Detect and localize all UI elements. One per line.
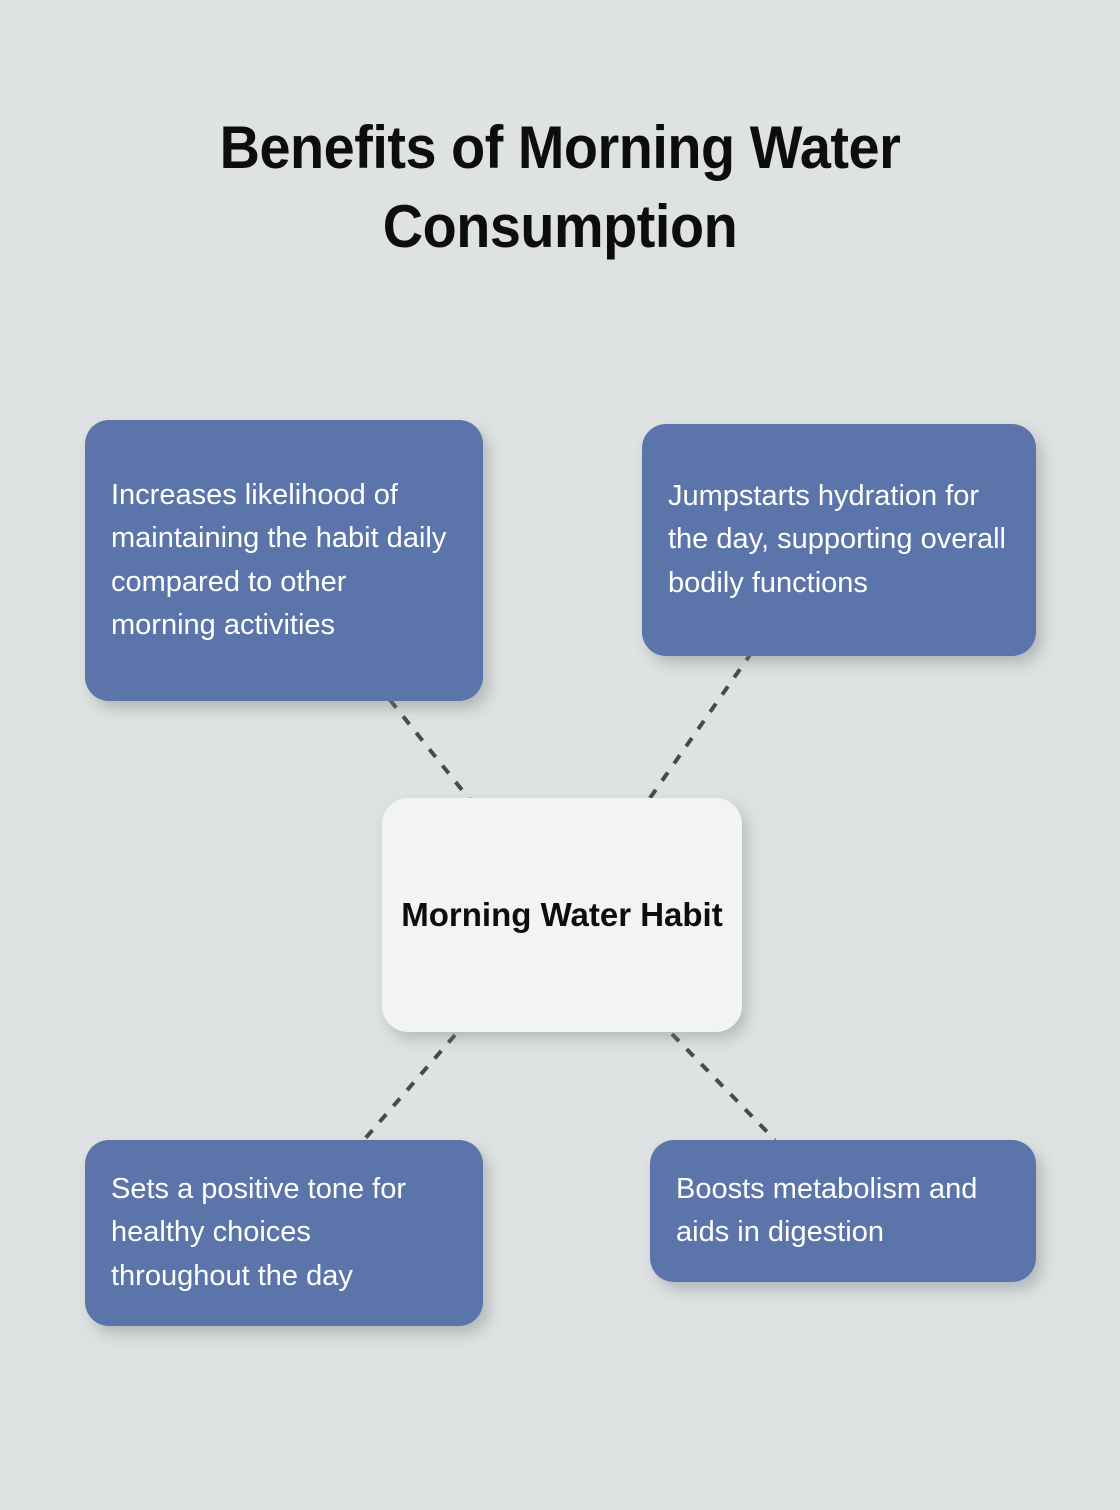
connector-center-to-bottom-right xyxy=(672,1034,775,1140)
center-node-label: Morning Water Habit xyxy=(382,892,742,939)
benefit-node-bottom-right-label: Boosts metabolism and aids in digestion xyxy=(676,1168,1010,1254)
benefit-node-top-right-label: Jumpstarts hydration for the day, suppor… xyxy=(668,475,1010,605)
benefit-node-top-right[interactable]: Jumpstarts hydration for the day, suppor… xyxy=(642,424,1036,656)
center-node-morning-water-habit[interactable]: Morning Water Habit xyxy=(382,798,742,1032)
connector-center-to-top-right xyxy=(650,652,752,798)
benefit-node-bottom-left-label: Sets a positive tone for healthy choices… xyxy=(111,1168,457,1298)
diagram-canvas: Benefits of Morning Water Consumption In… xyxy=(0,0,1120,1510)
benefit-node-bottom-left[interactable]: Sets a positive tone for healthy choices… xyxy=(85,1140,483,1326)
connector-center-to-bottom-left xyxy=(363,1035,455,1141)
benefit-node-top-left[interactable]: Increases likelihood of maintaining the … xyxy=(85,420,483,701)
benefit-node-bottom-right[interactable]: Boosts metabolism and aids in digestion xyxy=(650,1140,1036,1282)
connector-center-to-top-left xyxy=(390,700,470,800)
benefit-node-top-left-label: Increases likelihood of maintaining the … xyxy=(111,474,457,647)
